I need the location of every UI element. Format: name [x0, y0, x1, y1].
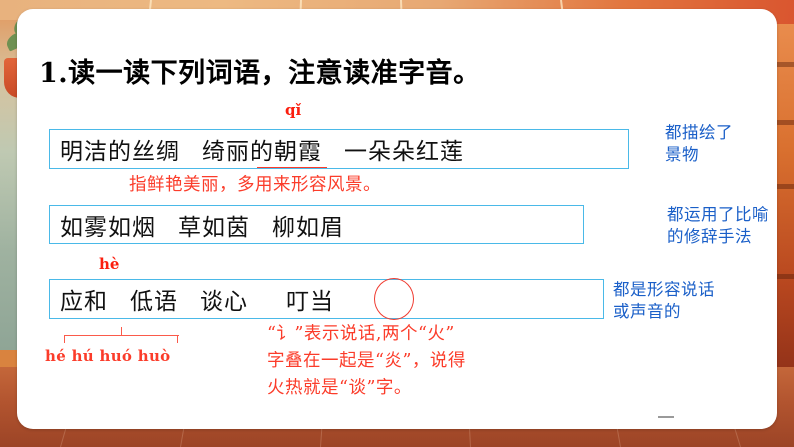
blue-annotation-row-2: 都运用了比喻 的修辞手法 — [667, 204, 769, 248]
red-annotation-row-1: 指鲜艳美丽，多用来形容风景。 — [129, 174, 381, 196]
word-row3-item1: 应和 — [60, 282, 108, 316]
word-row3-item2: 低语 — [130, 282, 178, 316]
word-row1-item2: 绮丽的朝霞 — [202, 132, 322, 166]
slide-content-card: 1.读一读下列词语，注意读准字音。 明洁的丝绸 绮丽的朝霞 一朵朵红莲 qǐ 指… — [17, 9, 777, 429]
word-row2-item1: 如雾如烟 — [60, 208, 156, 242]
word-row2-item2: 草如茵 — [178, 208, 250, 242]
word-row2-item3: 柳如眉 — [272, 208, 344, 242]
blue-annotation-row-3: 都是形容说话 或声音的 — [613, 279, 715, 323]
blue-annotation-row-1: 都描绘了 景物 — [665, 122, 733, 166]
pinyin-he-hu-huo-huo: hé hú huó huò — [45, 347, 170, 365]
red-annotation-row-3: “讠”表示说话,两个“火” 字叠在一起是“炎”，说得 火热就是“谈”字。 — [267, 321, 466, 402]
word-box-row-3[interactable]: 应和 低语 谈心 叮当 — [49, 279, 604, 319]
dash-mark — [658, 416, 674, 418]
red-circle-ding — [374, 278, 414, 320]
red-bracket-yinghe — [64, 327, 179, 343]
word-row3-item4: 叮当 — [286, 282, 334, 316]
word-row1-item1: 明洁的丝绸 — [60, 132, 180, 166]
word-box-row-2[interactable]: 如雾如烟 草如茵 柳如眉 — [49, 205, 584, 244]
word-row3-item3: 谈心 — [200, 282, 248, 316]
pinyin-he: hè — [99, 255, 119, 273]
red-underline-qili — [257, 167, 327, 168]
word-box-row-1[interactable]: 明洁的丝绸 绮丽的朝霞 一朵朵红莲 — [49, 129, 629, 169]
page-title: 1.读一读下列词语，注意读准字音。 — [39, 51, 481, 90]
pinyin-qi: qǐ — [285, 101, 301, 119]
word-row1-item3: 一朵朵红莲 — [344, 132, 464, 166]
